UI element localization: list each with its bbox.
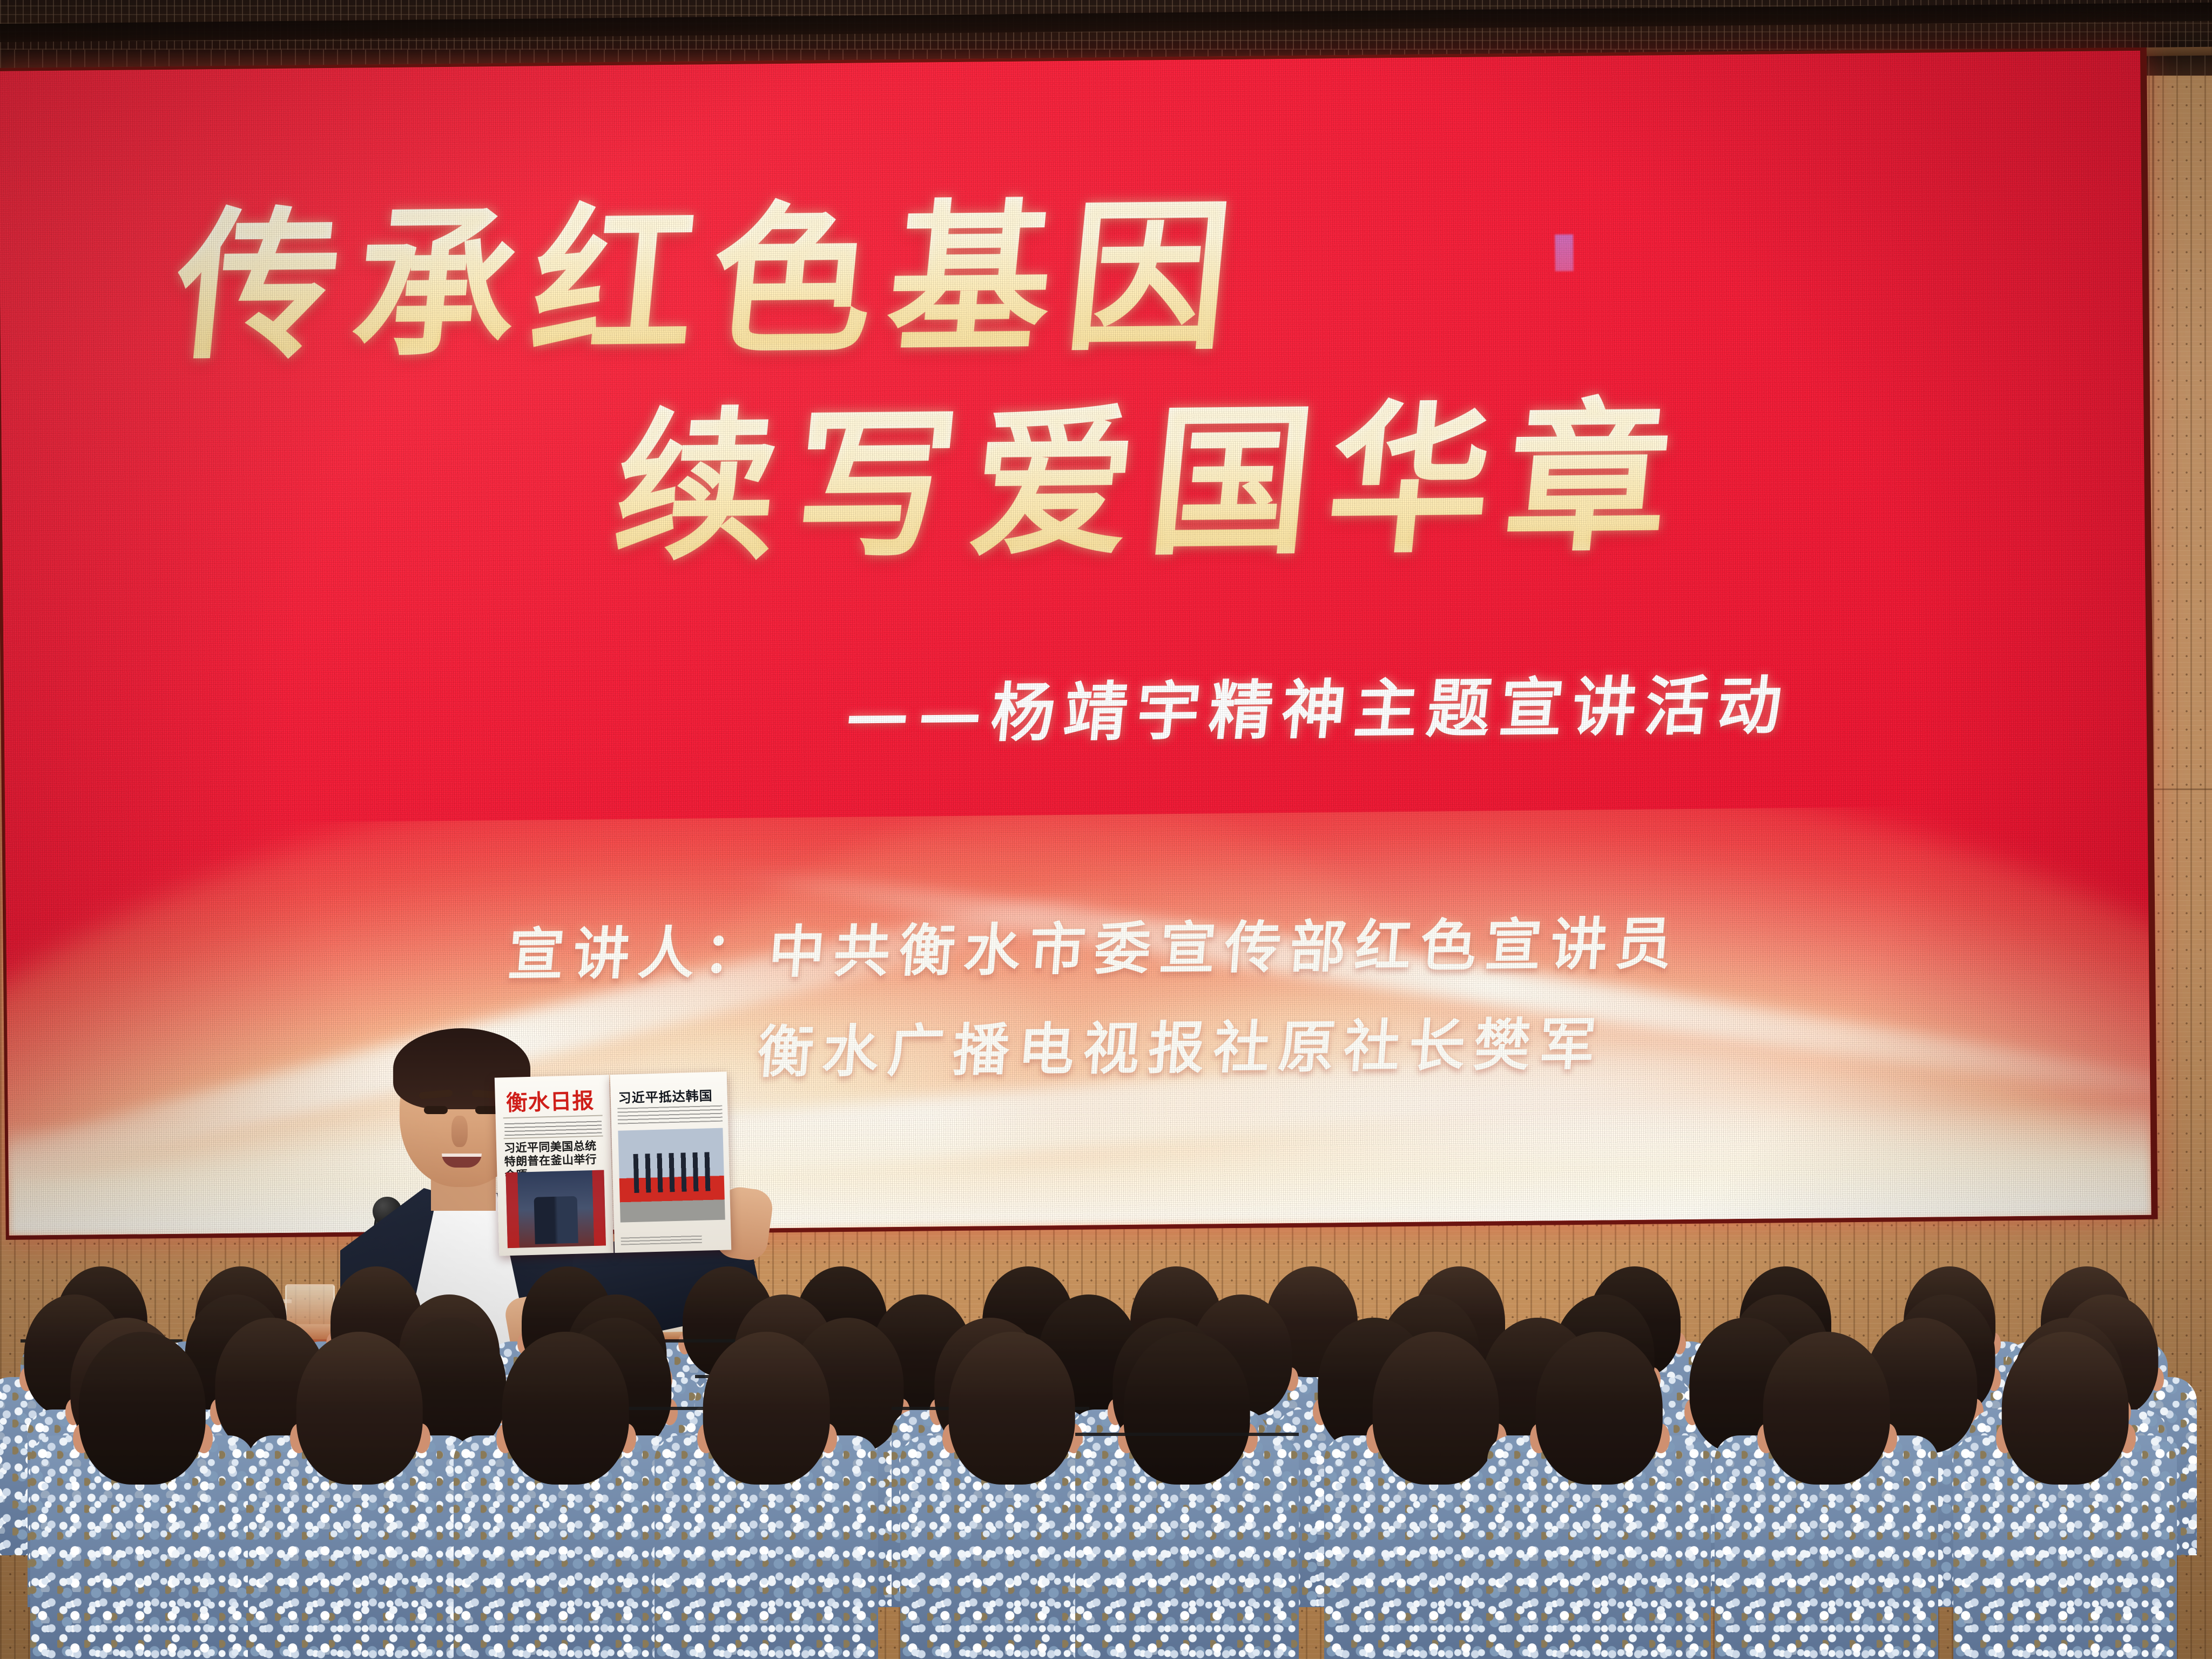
led-screen-text-layer: 传承红色基因 续写爱国华章 ——杨靖宇精神主题宣讲活动 宣讲人：中共衡水市委宣传… <box>0 51 2152 1236</box>
audience-head <box>1372 1332 1499 1485</box>
newspaper-right-photo-figures <box>633 1152 712 1192</box>
audience-head <box>296 1332 423 1485</box>
led-dead-pixel-block <box>1555 234 1574 271</box>
banner-subtitle: ——杨靖宇精神主题宣讲活动 <box>842 653 1795 755</box>
newspaper-right-subtext <box>617 1105 723 1124</box>
newspaper-subheader-lines <box>504 1120 602 1136</box>
newspaper-left-photo <box>505 1170 606 1248</box>
audience-member <box>248 1332 471 1659</box>
held-newspaper: 衡水日报 习近平同美国总统特朗普在釜山举行会晤 习近平抵达韩国 <box>495 1071 731 1256</box>
audience-head <box>1124 1332 1251 1485</box>
audience-member <box>454 1332 677 1659</box>
newspaper-right-headline: 习近平抵达韩国 <box>618 1085 721 1107</box>
audience-member <box>1715 1332 1938 1659</box>
audience-head <box>1536 1332 1663 1485</box>
banner-title-line-2: 续写爱国华章 <box>606 347 1698 591</box>
banner-speaker-line-1: 宣讲人：中共衡水市委宣传部红色宣讲员 <box>505 898 1684 990</box>
audience-head <box>502 1332 629 1485</box>
speaker-eye-left <box>424 1106 448 1114</box>
audience-crowd <box>0 1312 2212 1659</box>
led-screen-frame: 传承红色基因 续写爱国华章 ——杨靖宇精神主题宣讲活动 宣讲人：中共衡水市委宣传… <box>0 48 2158 1240</box>
audience-member <box>30 1332 254 1659</box>
audience-member <box>1075 1332 1299 1659</box>
audience-member <box>1487 1332 1711 1659</box>
audience-head <box>2002 1332 2129 1485</box>
wall-seam-horizontal <box>2152 788 2212 790</box>
banner-speaker-line-2: 衡水广播电视报社原社长樊军 <box>755 998 1608 1088</box>
audience-member <box>655 1332 878 1659</box>
newspaper-right-footer-lines <box>621 1235 702 1245</box>
audience-member <box>1953 1332 2177 1659</box>
screenshot-root: 传承红色基因 续写爱国华章 ——杨靖宇精神主题宣讲活动 宣讲人：中共衡水市委宣传… <box>0 0 2212 1659</box>
audience-head <box>79 1332 206 1485</box>
led-screen: 传承红色基因 续写爱国华章 ——杨靖宇精神主题宣讲活动 宣讲人：中共衡水市委宣传… <box>0 51 2152 1236</box>
newspaper-masthead: 衡水日报 <box>505 1089 598 1115</box>
newspaper-right-photo <box>618 1128 725 1223</box>
speaker-nose <box>451 1116 468 1147</box>
newspaper-left-page: 衡水日报 习近平同美国总统特朗普在釜山举行会晤 <box>495 1075 614 1256</box>
audience-head <box>948 1332 1075 1485</box>
audience-head <box>703 1332 830 1485</box>
newspaper-photo-figures <box>534 1196 578 1244</box>
newspaper-right-page: 习近平抵达韩国 <box>610 1071 732 1253</box>
audience-head <box>1763 1332 1890 1485</box>
audience-glasses <box>1075 1433 1299 1442</box>
